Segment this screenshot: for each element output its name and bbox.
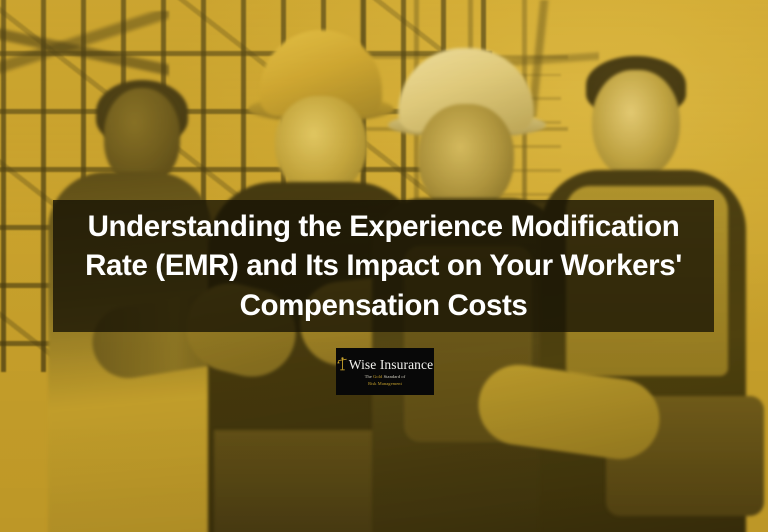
logo-tagline-gold-word: Gold xyxy=(373,374,382,379)
logo-tagline-pre: The xyxy=(365,374,373,379)
blog-hero-banner: Understanding the Experience Modificatio… xyxy=(0,0,768,532)
page-title-line-3: Compensation Costs xyxy=(67,286,700,326)
scales-of-justice-icon xyxy=(337,357,348,371)
crane-arm-icon xyxy=(0,11,169,80)
wise-insurance-logo[interactable]: Wise Insurance The Gold Standard of Risk… xyxy=(336,348,434,395)
worker-two-head xyxy=(275,96,367,196)
logo-brand-name: Wise Insurance xyxy=(349,358,433,372)
worker-four-head xyxy=(592,70,680,180)
logo-tagline-line-1: The Gold Standard of xyxy=(365,374,406,379)
worker-three-head xyxy=(418,104,514,212)
hero-title-overlay: Understanding the Experience Modificatio… xyxy=(53,200,714,332)
logo-tagline-line-2: Risk Management xyxy=(368,381,402,386)
worker-one-head xyxy=(104,88,180,184)
page-title-line-2: Rate (EMR) and Its Impact on Your Worker… xyxy=(67,246,700,286)
page-title-line-1: Understanding the Experience Modificatio… xyxy=(67,207,700,247)
page-title: Understanding the Experience Modificatio… xyxy=(67,207,700,326)
logo-brand-row: Wise Insurance xyxy=(337,357,433,371)
logo-tagline-post: Standard of xyxy=(382,374,405,379)
